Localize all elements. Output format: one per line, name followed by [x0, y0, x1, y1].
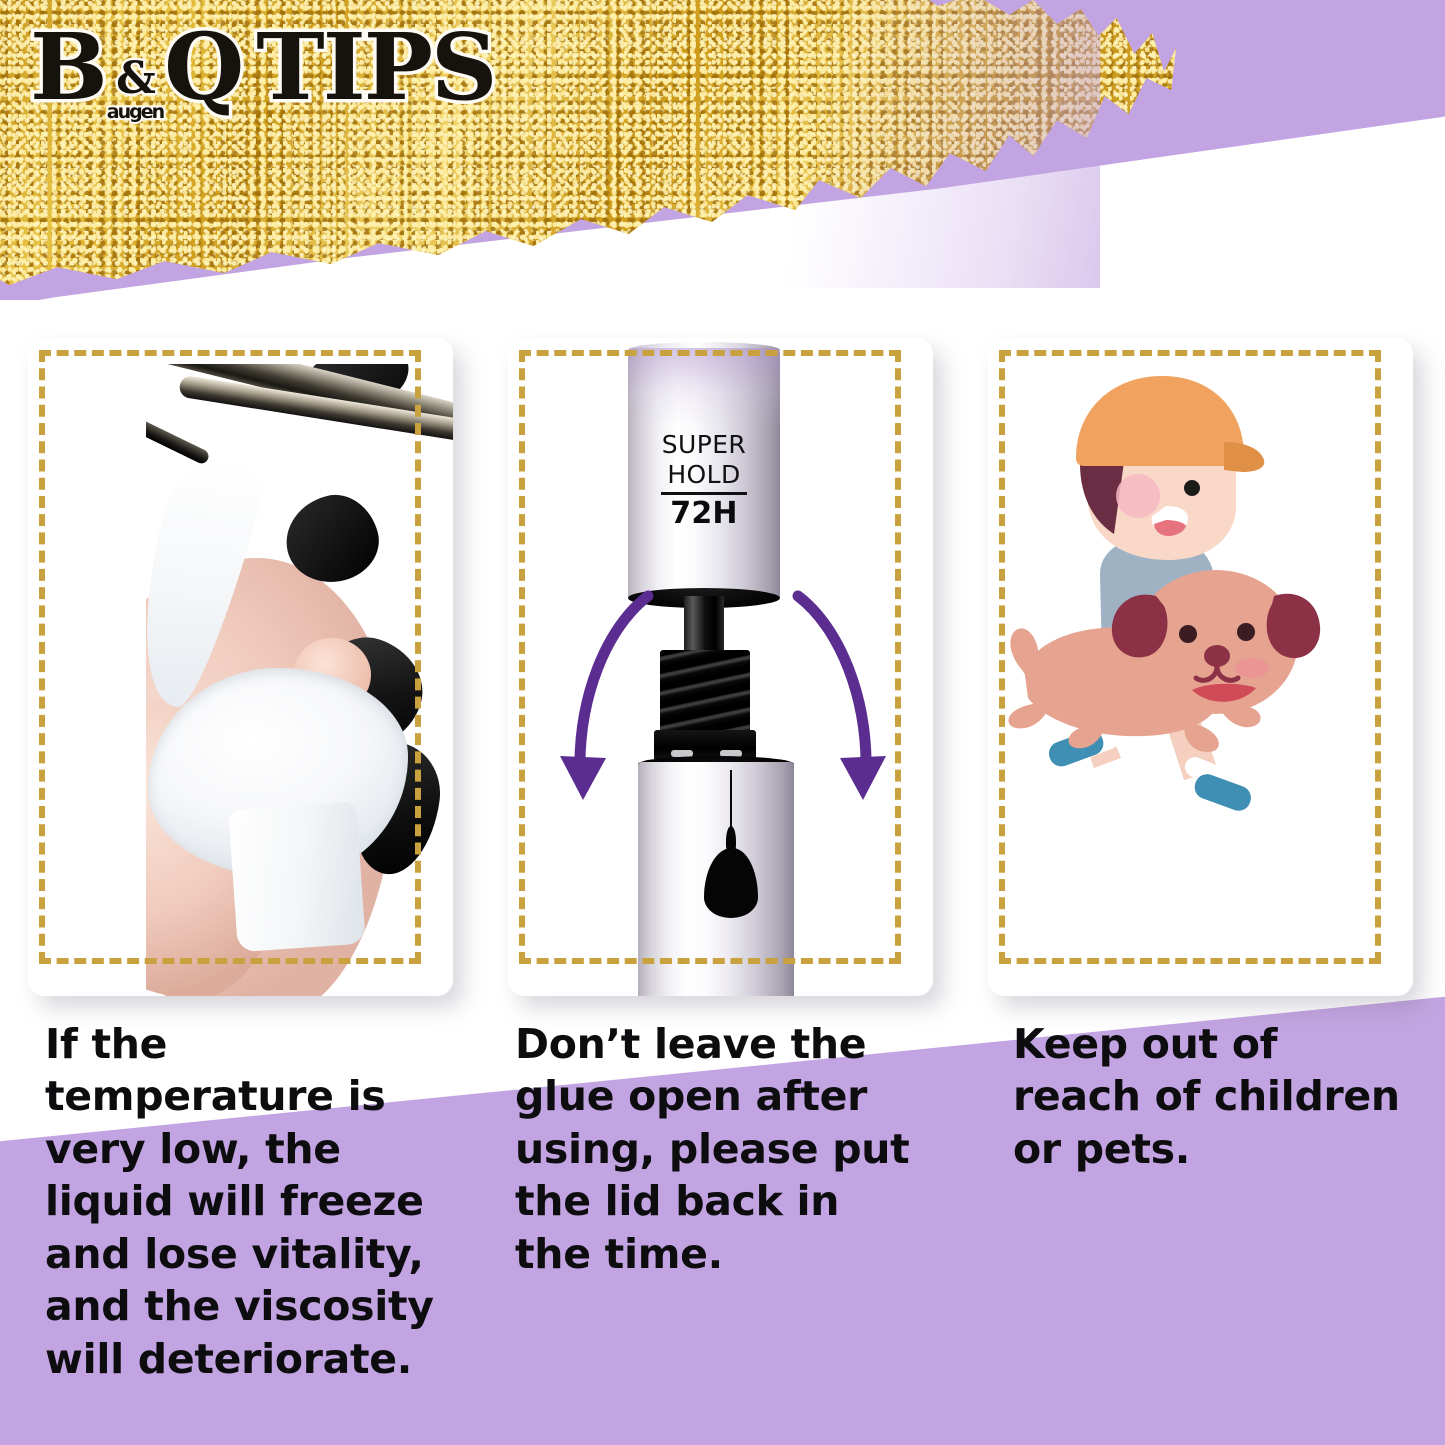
twist-arrow-right-icon	[770, 588, 890, 828]
label-line-hold: HOLD	[628, 460, 780, 490]
glue-bottle-illustration: SUPER HOLD 72H	[508, 338, 933, 996]
tip-card-close-lid: SUPER HOLD 72H	[508, 338, 933, 996]
label-line-72h: 72H	[628, 497, 780, 531]
dog-figure	[1009, 570, 1321, 752]
photo-left-mask	[28, 338, 146, 996]
caption-close-lid: Don’t leave the glue open after using, p…	[515, 1018, 915, 1280]
glue-viscosity-photo	[28, 338, 453, 996]
tip-cards: SUPER HOLD 72H	[0, 0, 1445, 1010]
child-dog-svg	[988, 338, 1413, 996]
white-glue-cup	[228, 802, 366, 953]
infographic-page: B & augen Q TIPS	[0, 0, 1445, 1445]
tip-captions: If the temperature is very low, the liqu…	[0, 1018, 1445, 1418]
photo-top-mask	[28, 338, 453, 364]
label-divider	[661, 492, 747, 495]
twist-arrow-left-icon	[556, 588, 676, 828]
caption-temperature: If the temperature is very low, the liqu…	[45, 1018, 465, 1385]
tip-card-keep-away	[988, 338, 1413, 996]
brush-stem	[684, 596, 724, 654]
caption-keep-away: Keep out of reach of children or pets.	[1013, 1018, 1413, 1175]
label-line-super: SUPER	[628, 430, 780, 460]
bottle-label: SUPER HOLD 72H	[628, 430, 780, 531]
cap-purple-sheen	[628, 348, 780, 428]
tip-card-temperature	[28, 338, 453, 996]
child-and-dog-illustration	[988, 338, 1413, 996]
